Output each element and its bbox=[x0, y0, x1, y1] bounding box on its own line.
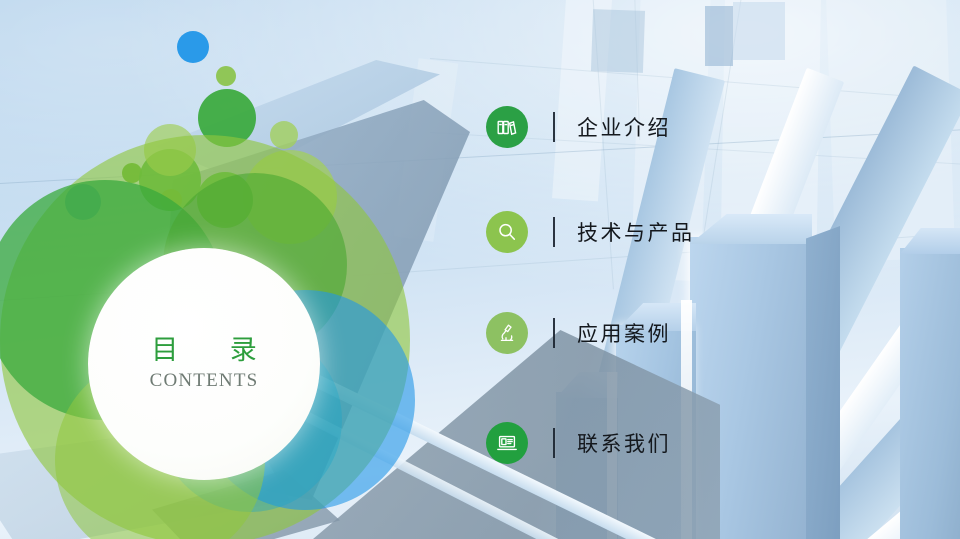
menu-divider bbox=[553, 428, 555, 458]
laptop-icon bbox=[486, 422, 528, 464]
menu-label: 企业介绍 bbox=[577, 112, 671, 142]
menu-item-company-intro[interactable]: 企业介绍 bbox=[486, 103, 671, 151]
menu-item-tech-products[interactable]: 技术与产品 bbox=[486, 208, 695, 256]
menu-divider bbox=[553, 217, 555, 247]
menu-item-use-cases[interactable]: 应用案例 bbox=[486, 309, 671, 357]
magnifier-icon bbox=[486, 211, 528, 253]
decorative-bubble bbox=[177, 31, 209, 63]
menu-divider bbox=[553, 318, 555, 348]
contents-disc: 目 录 CONTENTS bbox=[88, 248, 320, 480]
contents-menu: 企业介绍 技术与产品 bbox=[486, 0, 916, 539]
menu-label: 联系我们 bbox=[577, 428, 671, 458]
menu-item-contact-us[interactable]: 联系我们 bbox=[486, 419, 671, 467]
books-icon bbox=[486, 106, 528, 148]
contents-slide: 目 录 CONTENTS 企业介绍 bbox=[0, 0, 960, 539]
menu-divider bbox=[553, 112, 555, 142]
menu-label: 应用案例 bbox=[577, 318, 671, 348]
menu-label: 技术与产品 bbox=[577, 217, 695, 247]
microscope-icon bbox=[486, 312, 528, 354]
page-title: 目 录 bbox=[129, 336, 279, 366]
page-subtitle: CONTENTS bbox=[150, 370, 259, 392]
decorative-bubble bbox=[270, 121, 298, 149]
decorative-bubble bbox=[216, 66, 236, 86]
